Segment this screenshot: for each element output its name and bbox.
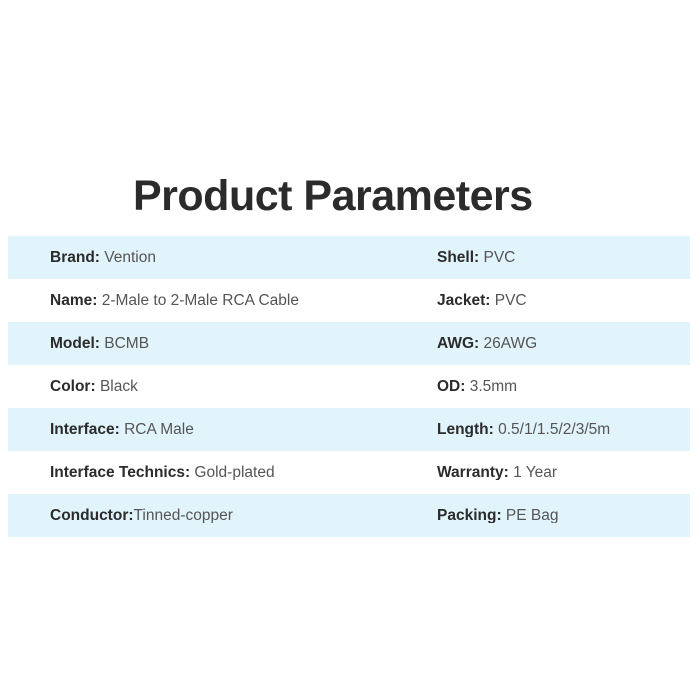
spec-cell-left: Interface: RCA Male — [50, 422, 194, 438]
table-row: Interface Technics: Gold-platedWarranty:… — [8, 451, 690, 494]
spec-cell-left: Model: BCMB — [50, 336, 149, 352]
spec-cell-left: Name: 2-Male to 2-Male RCA Cable — [50, 293, 299, 309]
table-row: Conductor:Tinned-copperPacking: PE Bag — [8, 494, 690, 537]
spec-cell-right: OD: 3.5mm — [437, 379, 517, 395]
spec-label: Warranty: — [437, 465, 509, 481]
spec-value: Gold-plated — [190, 465, 274, 481]
spec-label: OD: — [437, 379, 465, 395]
spec-value: 3.5mm — [465, 379, 517, 395]
spec-cell-left: Brand: Vention — [50, 250, 156, 266]
spec-value: Vention — [100, 250, 156, 266]
spec-value: PVC — [479, 250, 515, 266]
spec-cell-right: Length: 0.5/1/1.5/2/3/5m — [437, 422, 610, 438]
table-row: Name: 2-Male to 2-Male RCA CableJacket: … — [8, 279, 690, 322]
spec-label: AWG: — [437, 336, 479, 352]
spec-cell-right: Jacket: PVC — [437, 293, 527, 309]
spec-value: RCA Male — [120, 422, 194, 438]
spec-label: Name: — [50, 293, 97, 309]
spec-value: PE Bag — [502, 508, 559, 524]
spec-cell-right: Warranty: 1 Year — [437, 465, 557, 481]
spec-cell-left: Interface Technics: Gold-plated — [50, 465, 275, 481]
spec-value: BCMB — [100, 336, 149, 352]
product-parameters-page: Product Parameters Brand: VentionShell: … — [0, 0, 700, 700]
spec-label: Model: — [50, 336, 100, 352]
table-row: Brand: VentionShell: PVC — [8, 236, 690, 279]
spec-label: Shell: — [437, 250, 479, 266]
spec-value: 1 Year — [509, 465, 557, 481]
spec-label: Conductor: — [50, 508, 134, 524]
spec-label: Color: — [50, 379, 96, 395]
spec-label: Interface: — [50, 422, 120, 438]
table-row: Color: BlackOD: 3.5mm — [8, 365, 690, 408]
spec-cell-right: AWG: 26AWG — [437, 336, 537, 352]
page-title: Product Parameters — [133, 172, 533, 221]
spec-value: 0.5/1/1.5/2/3/5m — [494, 422, 610, 438]
spec-label: Jacket: — [437, 293, 490, 309]
table-row: Model: BCMBAWG: 26AWG — [8, 322, 690, 365]
spec-cell-right: Packing: PE Bag — [437, 508, 558, 524]
spec-value: Black — [96, 379, 138, 395]
spec-label: Packing: — [437, 508, 502, 524]
spec-value: PVC — [490, 293, 526, 309]
spec-value: 26AWG — [479, 336, 537, 352]
spec-cell-left: Color: Black — [50, 379, 138, 395]
table-row: Interface: RCA MaleLength: 0.5/1/1.5/2/3… — [8, 408, 690, 451]
spec-value: Tinned-copper — [134, 508, 233, 524]
spec-label: Brand: — [50, 250, 100, 266]
spec-value: 2-Male to 2-Male RCA Cable — [97, 293, 299, 309]
spec-cell-right: Shell: PVC — [437, 250, 515, 266]
specifications-table: Brand: VentionShell: PVCName: 2-Male to … — [8, 236, 690, 537]
spec-cell-left: Conductor:Tinned-copper — [50, 508, 233, 524]
spec-label: Interface Technics: — [50, 465, 190, 481]
spec-label: Length: — [437, 422, 494, 438]
